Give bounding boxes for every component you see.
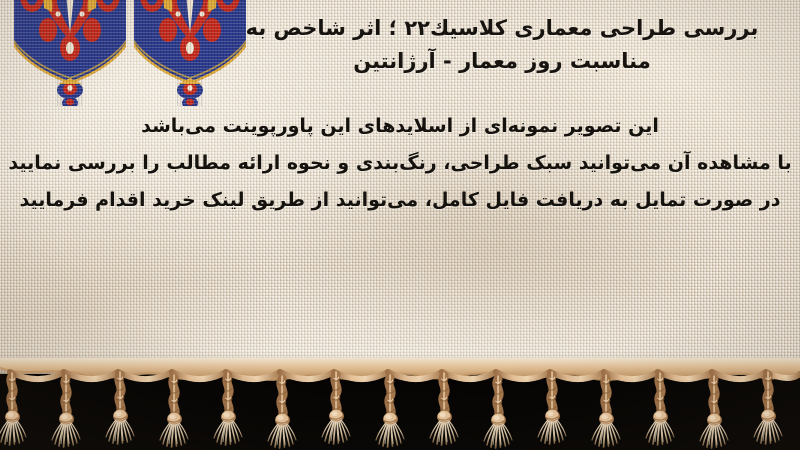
slide-headline: بررسی طراحی معماری کلاسیك۲۲ ؛ اثر شاخص ب… <box>222 12 782 78</box>
body-line-3: در صورت تمایل به دریافت فایل کامل، می‌تو… <box>0 182 800 219</box>
slide-body-text: این تصویر نمونه‌ای از اسلایدهای این پاور… <box>0 108 800 219</box>
black-footer-band <box>0 374 800 450</box>
body-line-1: این تصویر نمونه‌ای از اسلایدهای این پاور… <box>0 108 800 145</box>
headline-line-1: بررسی طراحی معماری کلاسیك۲۲ ؛ اثر شاخص ب… <box>222 12 782 45</box>
body-line-2: با مشاهده آن می‌توانید سبک طراحی، رنگ‌بن… <box>0 145 800 182</box>
headline-line-2: مناسبت روز معمار - آرژانتین <box>222 45 782 78</box>
slide-canvas: بررسی طراحی معماری کلاسیك۲۲ ؛ اثر شاخص ب… <box>0 0 800 450</box>
